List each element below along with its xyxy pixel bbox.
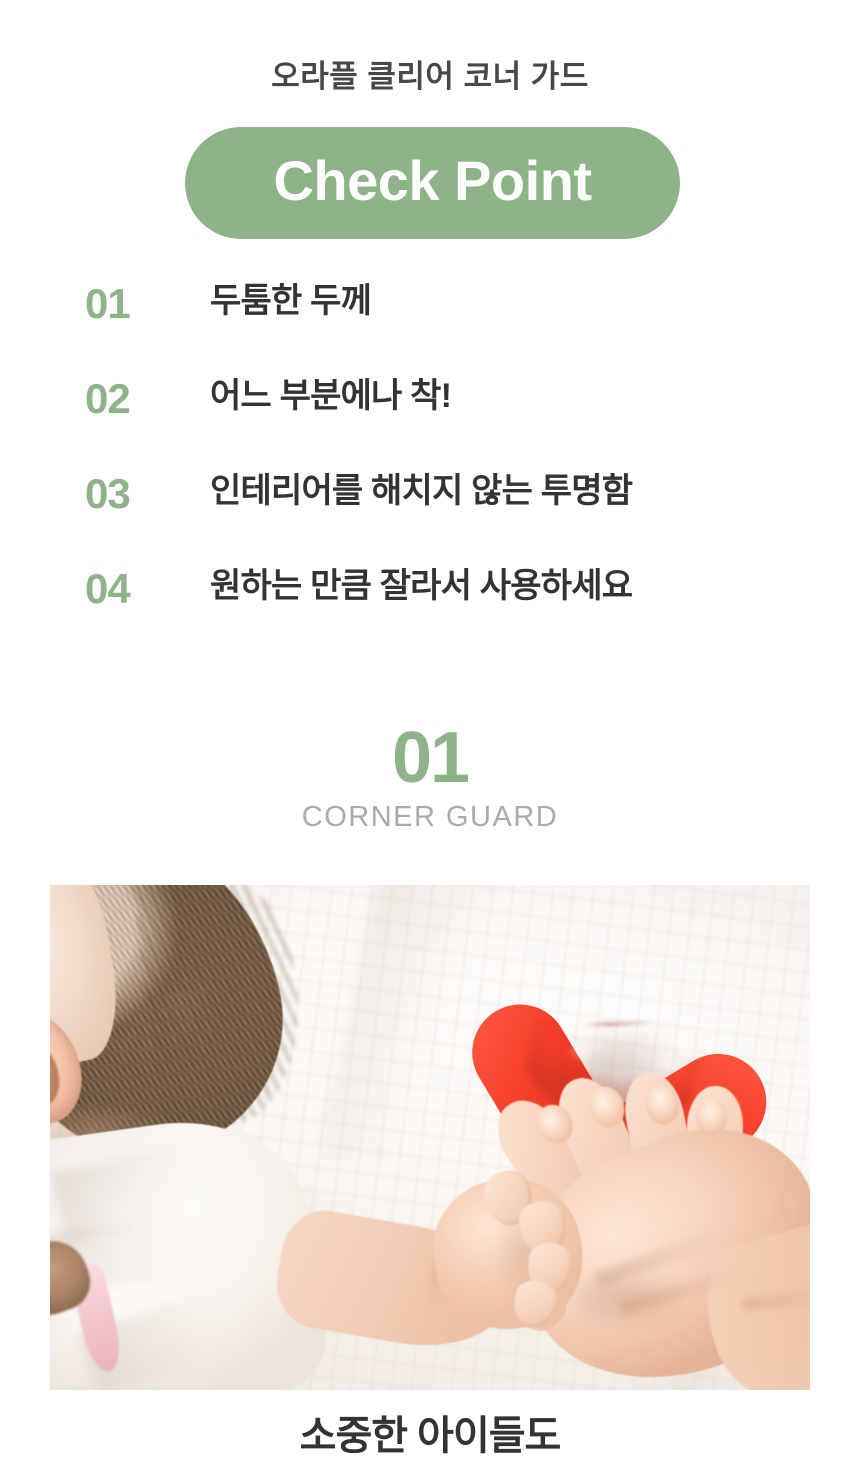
check-point-number: 03 [85,473,210,515]
list-item: 02 어느 부분에나 착! [0,378,860,473]
photo-scene [50,885,810,1390]
check-point-label: 인테리어를 해치지 않는 투명함 [210,473,632,508]
baby-hair-wisps [133,885,312,1133]
section-subtitle: CORNER GUARD [0,802,860,834]
baby-hand [278,1185,578,1355]
check-point-list: 01 두툼한 두께 02 어느 부분에나 착! 03 인테리어를 해치지 않는 … [0,283,860,663]
section-marker: 01 CORNER GUARD [0,722,860,834]
check-point-label: 어느 부분에나 착! [210,378,451,413]
check-point-label: 두툼한 두께 [210,283,371,318]
check-point-badge-label: Check Point [273,153,591,213]
product-lifestyle-photo [50,885,810,1390]
check-point-badge: Check Point [185,127,680,239]
list-item: 01 두툼한 두께 [0,283,860,378]
check-point-number: 01 [85,283,210,325]
bottom-caption: 소중한 아이들도 [0,1414,860,1458]
check-point-number: 02 [85,378,210,420]
check-point-label: 원하는 만큼 잘라서 사용하세요 [210,568,632,603]
page-title: 오라플 클리어 코너 가드 [0,58,860,95]
check-point-number: 04 [85,568,210,610]
hand-contact-shadow [578,1271,728,1341]
list-item: 04 원하는 만큼 잘라서 사용하세요 [0,568,860,663]
section-number: 01 [0,722,860,794]
list-item: 03 인테리어를 해치지 않는 투명함 [0,473,860,568]
product-detail-page: 오라플 클리어 코너 가드 Check Point 01 두툼한 두께 02 어… [0,0,860,1479]
